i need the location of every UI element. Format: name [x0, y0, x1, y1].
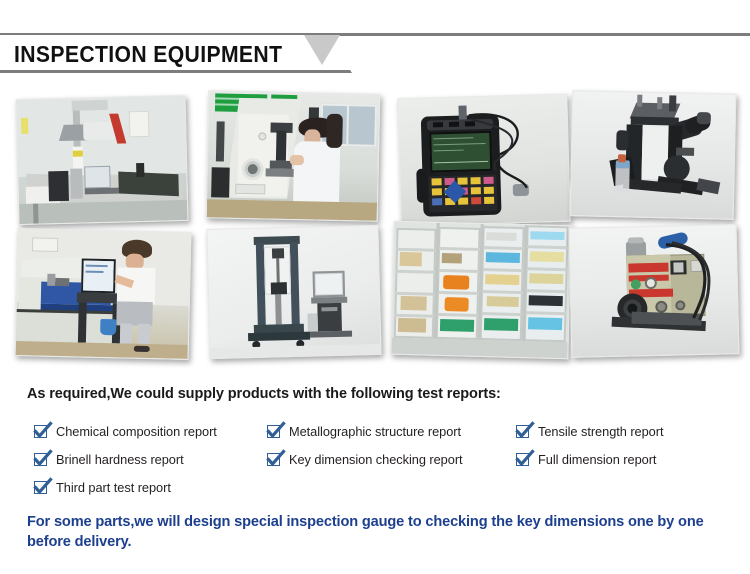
checklist-item-label: Tensile strength report	[538, 424, 663, 439]
equipment-photo-gallery	[0, 84, 750, 374]
photo-magnetic-particle-detector[interactable]	[569, 224, 740, 358]
checklist-item-label: Third part test report	[56, 480, 171, 495]
photo-gauge-storage-cabinets[interactable]	[390, 221, 571, 360]
checkbox-checked-icon[interactable]	[34, 453, 47, 466]
checklist-item-label: Metallographic structure report	[289, 424, 461, 439]
photo-spectrometer-operator[interactable]	[15, 228, 192, 360]
checklist-item-full-dimension-report[interactable]: Full dimension report	[516, 452, 656, 467]
checklist-item-label: Chemical composition report	[56, 424, 217, 439]
checklist-row: Third part test report	[0, 480, 750, 508]
checklist-item-chemical-composition-report[interactable]: Chemical composition report	[34, 424, 217, 439]
checklist-item-label: Key dimension checking report	[289, 452, 463, 467]
checklist-item-third-part-test-report[interactable]: Third part test report	[34, 480, 171, 495]
photo-universal-testing-machine[interactable]	[206, 225, 381, 359]
checklist-item-label: Full dimension report	[538, 452, 656, 467]
photo-cmm-measuring-machine[interactable]	[15, 95, 188, 225]
banner-triangle-notch-icon	[304, 35, 340, 65]
photo-metallurgical-microscope[interactable]	[570, 90, 737, 220]
checklist-item-key-dimension-checking-report[interactable]: Key dimension checking report	[267, 452, 463, 467]
gauge-design-note-line-1: For some parts,we will design special in…	[27, 514, 624, 530]
checkbox-checked-icon[interactable]	[34, 481, 47, 494]
checkbox-checked-icon[interactable]	[516, 425, 529, 438]
checklist-item-label: Brinell hardness report	[56, 452, 184, 467]
gauge-design-note: For some parts,we will design special in…	[27, 512, 717, 552]
checkbox-checked-icon[interactable]	[267, 425, 280, 438]
section-lead-text: As required,We could supply products wit…	[27, 386, 501, 402]
photo-ultrasonic-flaw-detector[interactable]	[397, 94, 571, 227]
checklist-row: Chemical composition report Metallograph…	[0, 424, 750, 452]
checklist-row: Brinell hardness report Key dimension ch…	[0, 452, 750, 480]
checkbox-checked-icon[interactable]	[516, 453, 529, 466]
test-reports-section: As required,We could supply products wit…	[0, 378, 750, 574]
checkbox-checked-icon[interactable]	[267, 453, 280, 466]
page-title: INSPECTION EQUIPMENT	[14, 36, 282, 72]
checklist-item-tensile-strength-report[interactable]: Tensile strength report	[516, 424, 663, 439]
checklist-item-metallographic-structure-report[interactable]: Metallographic structure report	[267, 424, 461, 439]
checkbox-checked-icon[interactable]	[34, 425, 47, 438]
checklist-item-brinell-hardness-report[interactable]: Brinell hardness report	[34, 452, 184, 467]
photo-hardness-tester-operator[interactable]	[206, 90, 381, 222]
